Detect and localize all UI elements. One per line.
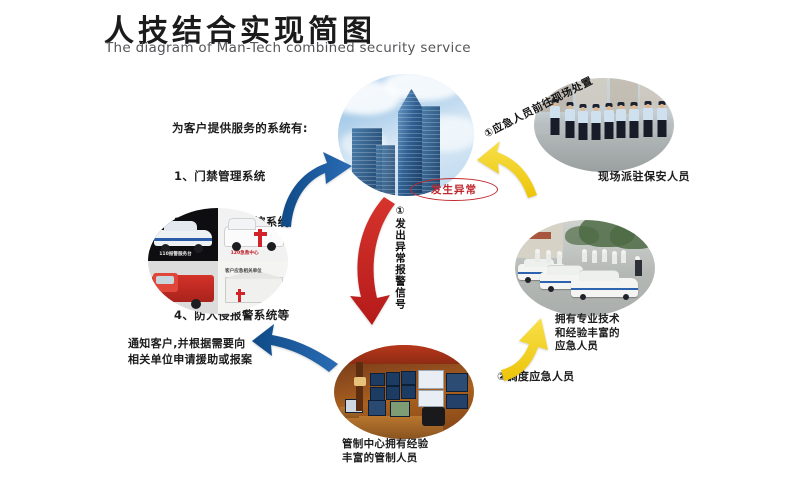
flow-label-alarm-signal: ①发出异常报警信号 — [394, 205, 405, 310]
caption-emergency-staff: 拥有专业技术 和经验丰富的 应急人员 — [555, 313, 620, 354]
page-subtitle-english: The diagram of Man-Tech combined securit… — [105, 40, 471, 56]
caption-control-center: 管制中心拥有经验 丰富的管制人员 — [342, 437, 428, 465]
flow-label-dispatch-staff: ②调度应急人员 — [497, 370, 574, 385]
arrow-red-alarm-signal — [350, 197, 395, 325]
caption-guards: 现场派驻保安人员 — [598, 170, 690, 185]
node-image-emergency-units: 110报警服务台 120急救中心 客户应急相 — [148, 208, 288, 314]
node-image-patrol-cars — [515, 220, 655, 316]
sub-caption-120: 120急救中心 — [231, 250, 259, 256]
systems-list-item: 1、门禁管理系统 — [172, 169, 308, 185]
caption-notify-client: 通知客户,并根据需要向 相关单位申请援助或报案 — [128, 336, 252, 368]
sub-caption-client-units: 客户应急相关单位 — [225, 268, 262, 274]
node-image-control-room — [334, 345, 474, 439]
sub-caption-110: 110报警服务台 — [159, 251, 192, 257]
status-badge-anomaly: 发生异常 — [410, 178, 498, 201]
diagram-canvas: 人技结合实现简图 The diagram of Man-Tech combine… — [0, 0, 802, 477]
systems-list-heading: 为客户提供服务的系统有: — [172, 121, 308, 137]
